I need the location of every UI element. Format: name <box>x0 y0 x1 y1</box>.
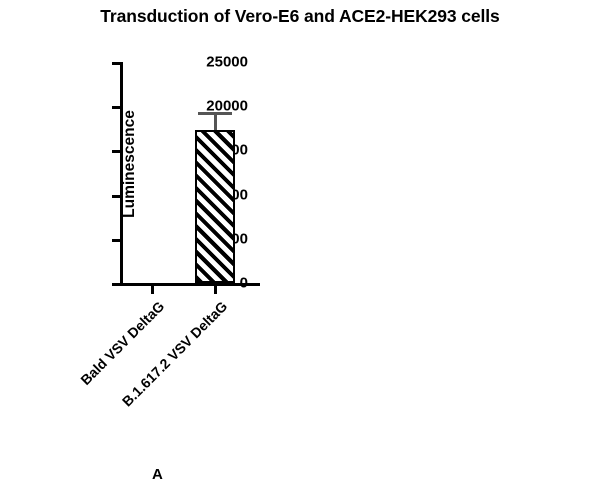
y-tick-a-15000 <box>112 150 120 153</box>
x-tick-label-a-2-text: B.1.617.2 VSV DeltaG <box>119 298 230 409</box>
chart-panel-b: 20000 15000 10000 5000 0 Luminescence HE… <box>300 0 600 501</box>
y-tick-a-10000 <box>112 195 120 198</box>
panel-letter-a: A <box>152 466 163 483</box>
y-tick-a-25000 <box>112 62 120 65</box>
y-tick-a-5000 <box>112 239 120 242</box>
error-bar-stem <box>214 113 217 130</box>
x-tick-a-1 <box>151 286 154 294</box>
y-tick-a-0 <box>112 283 120 286</box>
y-tick-label-a-25000: 25000 <box>206 54 248 71</box>
chart-panel-a: 25000 20000 15000 10000 5000 0 Luminesce… <box>0 0 300 501</box>
y-axis-title-a: Luminescence <box>121 84 139 244</box>
x-tick-a-2 <box>214 286 217 294</box>
y-tick-a-20000 <box>112 106 120 109</box>
error-bar-cap <box>198 112 232 115</box>
plot-area-a: 25000 20000 15000 10000 5000 0 Luminesce… <box>120 62 260 283</box>
